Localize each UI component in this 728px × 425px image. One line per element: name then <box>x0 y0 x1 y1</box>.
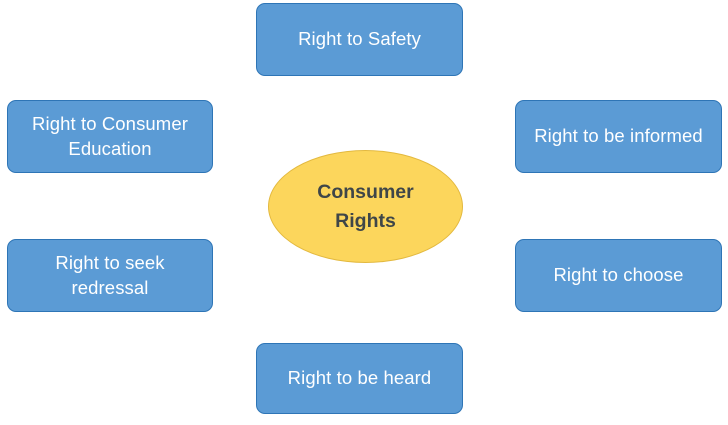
diagram-center-consumer-rights[interactable]: Consumer Rights <box>268 150 463 263</box>
diagram-node-right-to-seek-redressal[interactable]: Right to seek redressal <box>7 239 213 312</box>
node-label: Right to Safety <box>288 27 431 52</box>
diagram-node-right-to-choose[interactable]: Right to choose <box>515 239 722 312</box>
center-label: Consumer Rights <box>303 178 427 235</box>
node-label: Right to be informed <box>524 124 713 149</box>
node-label: Right to choose <box>543 263 693 288</box>
diagram-node-right-to-safety[interactable]: Right to Safety <box>256 3 463 76</box>
center-label-line2: Rights <box>335 210 396 232</box>
diagram-node-right-to-be-heard[interactable]: Right to be heard <box>256 343 463 414</box>
diagram-node-right-to-consumer-education[interactable]: Right to Consumer Education <box>7 100 213 173</box>
node-label: Right to Consumer Education <box>8 112 212 161</box>
node-label: Right to be heard <box>278 366 442 391</box>
node-label: Right to seek redressal <box>8 251 212 300</box>
center-label-line1: Consumer <box>317 181 413 203</box>
consumer-rights-diagram: Right to Safety Right to Consumer Educat… <box>0 0 728 425</box>
diagram-node-right-to-be-informed[interactable]: Right to be informed <box>515 100 722 173</box>
